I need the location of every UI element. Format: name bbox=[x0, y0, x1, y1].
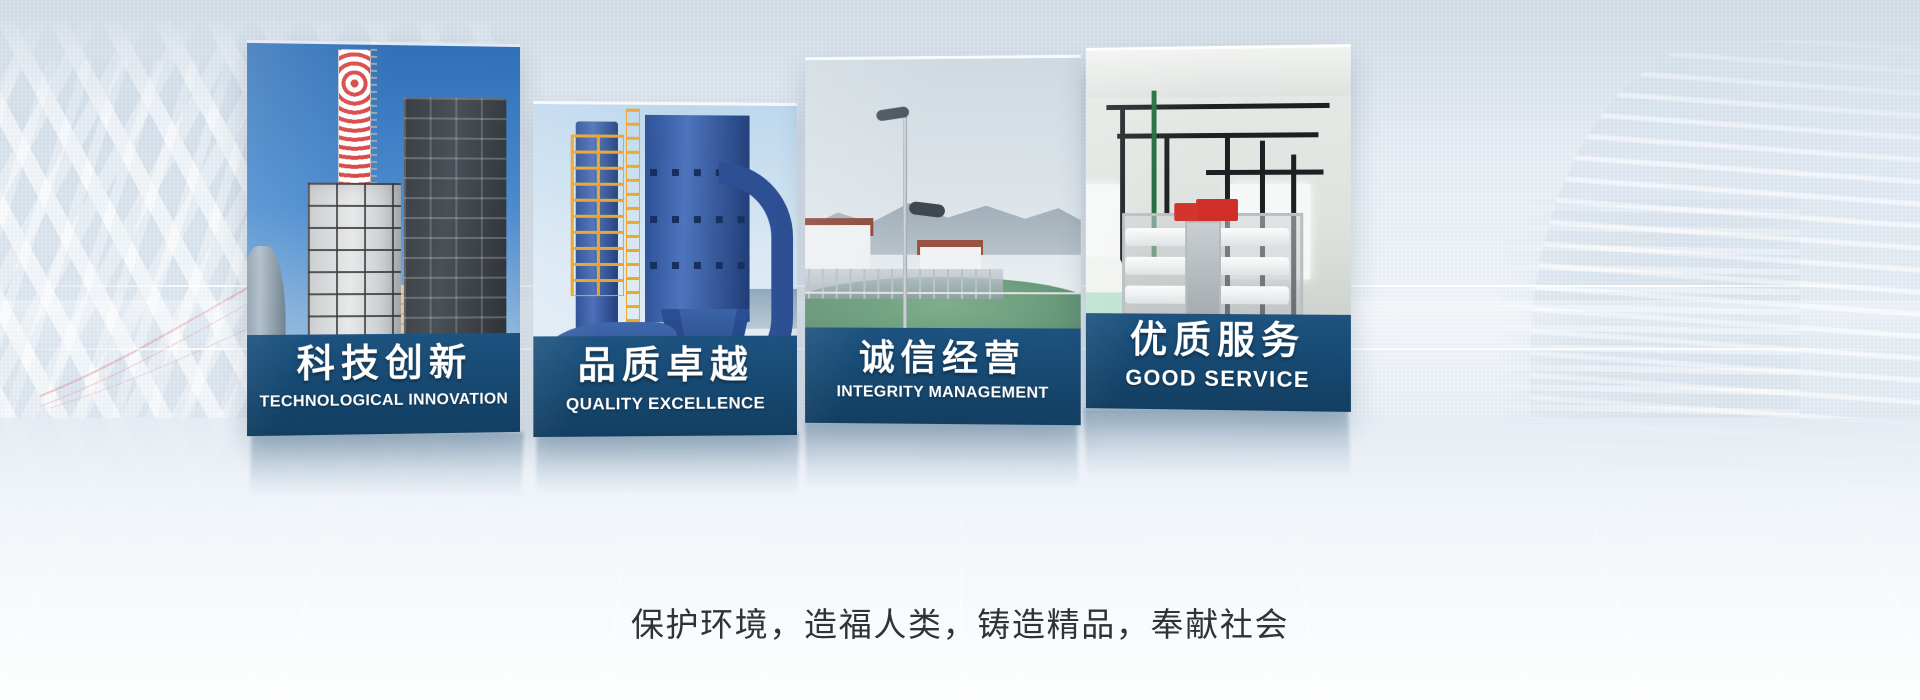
panel-caption-good-service: 优质服务 GOOD SERVICE bbox=[1086, 313, 1351, 412]
photo-element-safety-cage bbox=[571, 135, 624, 296]
panel-title-en: TECHNOLOGICAL INNOVATION bbox=[259, 391, 508, 410]
panel-title-en: QUALITY EXCELLENCE bbox=[566, 394, 765, 412]
photo-element-red-sign-small bbox=[1175, 203, 1199, 221]
panel-title-cn: 品质卓越 bbox=[578, 346, 754, 385]
panel-title-cn: 优质服务 bbox=[1130, 321, 1306, 361]
panel-caption-technological-innovation: 科技创新 TECHNOLOGICAL INNOVATION bbox=[247, 333, 520, 436]
photo-element-pipe-vertical-2 bbox=[1164, 134, 1169, 214]
panel-title-cn: 科技创新 bbox=[297, 344, 473, 384]
panel-title-en: INTEGRITY MANAGEMENT bbox=[837, 384, 1049, 402]
photo-element-ceiling bbox=[1086, 44, 1351, 98]
panel-caption-quality-excellence: 品质卓越 QUALITY EXCELLENCE bbox=[533, 336, 797, 437]
feature-panel-quality-excellence[interactable]: 品质卓越 QUALITY EXCELLENCE bbox=[533, 101, 797, 437]
feature-panel-technological-innovation[interactable]: 科技创新 TECHNOLOGICAL INNOVATION bbox=[247, 40, 520, 436]
company-tagline: 保护环境，造福人类，铸造精品，奉献社会 bbox=[0, 598, 1920, 646]
photo-element-red-sign-large bbox=[1196, 199, 1238, 221]
background-floor-perspective-lines bbox=[0, 418, 1920, 700]
banner-stage: 科技创新 TECHNOLOGICAL INNOVATION 品质卓越 QUALI… bbox=[0, 0, 1920, 700]
feature-panel-good-service[interactable]: 优质服务 GOOD SERVICE bbox=[1086, 44, 1351, 412]
panel-title-cn: 诚信经营 bbox=[859, 339, 1026, 376]
panel-caption-integrity-management: 诚信经营 INTEGRITY MANAGEMENT bbox=[805, 327, 1081, 425]
panel-title-en: GOOD SERVICE bbox=[1125, 367, 1310, 391]
feature-panel-integrity-management[interactable]: 诚信经营 INTEGRITY MANAGEMENT bbox=[805, 55, 1081, 425]
